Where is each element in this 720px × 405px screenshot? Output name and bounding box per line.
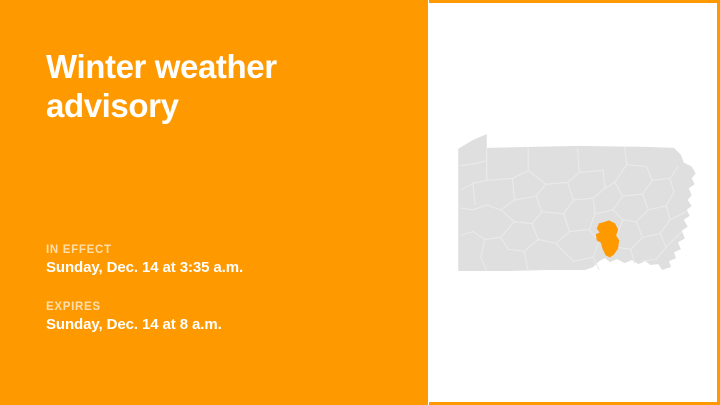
pennsylvania-map-icon bbox=[429, 3, 717, 402]
in-effect-label: IN EFFECT bbox=[46, 243, 406, 257]
alert-title: Winter weather advisory bbox=[46, 48, 386, 126]
in-effect-value: Sunday, Dec. 14 at 3:35 a.m. bbox=[46, 258, 406, 278]
expires-label: EXPIRES bbox=[46, 300, 406, 314]
alert-panel: Winter weather advisory IN EFFECT Sunday… bbox=[0, 0, 428, 405]
in-effect-group: IN EFFECT Sunday, Dec. 14 at 3:35 a.m. bbox=[46, 243, 406, 278]
expires-group: EXPIRES Sunday, Dec. 14 at 8 a.m. bbox=[46, 300, 406, 335]
alert-times: IN EFFECT Sunday, Dec. 14 at 3:35 a.m. E… bbox=[46, 243, 406, 335]
state-outline bbox=[458, 134, 695, 271]
map-card bbox=[429, 0, 720, 405]
weather-alert-graphic: Winter weather advisory IN EFFECT Sunday… bbox=[0, 0, 720, 405]
expires-value: Sunday, Dec. 14 at 8 a.m. bbox=[46, 315, 406, 335]
state-shape-group bbox=[458, 134, 695, 271]
state-map bbox=[429, 3, 717, 402]
